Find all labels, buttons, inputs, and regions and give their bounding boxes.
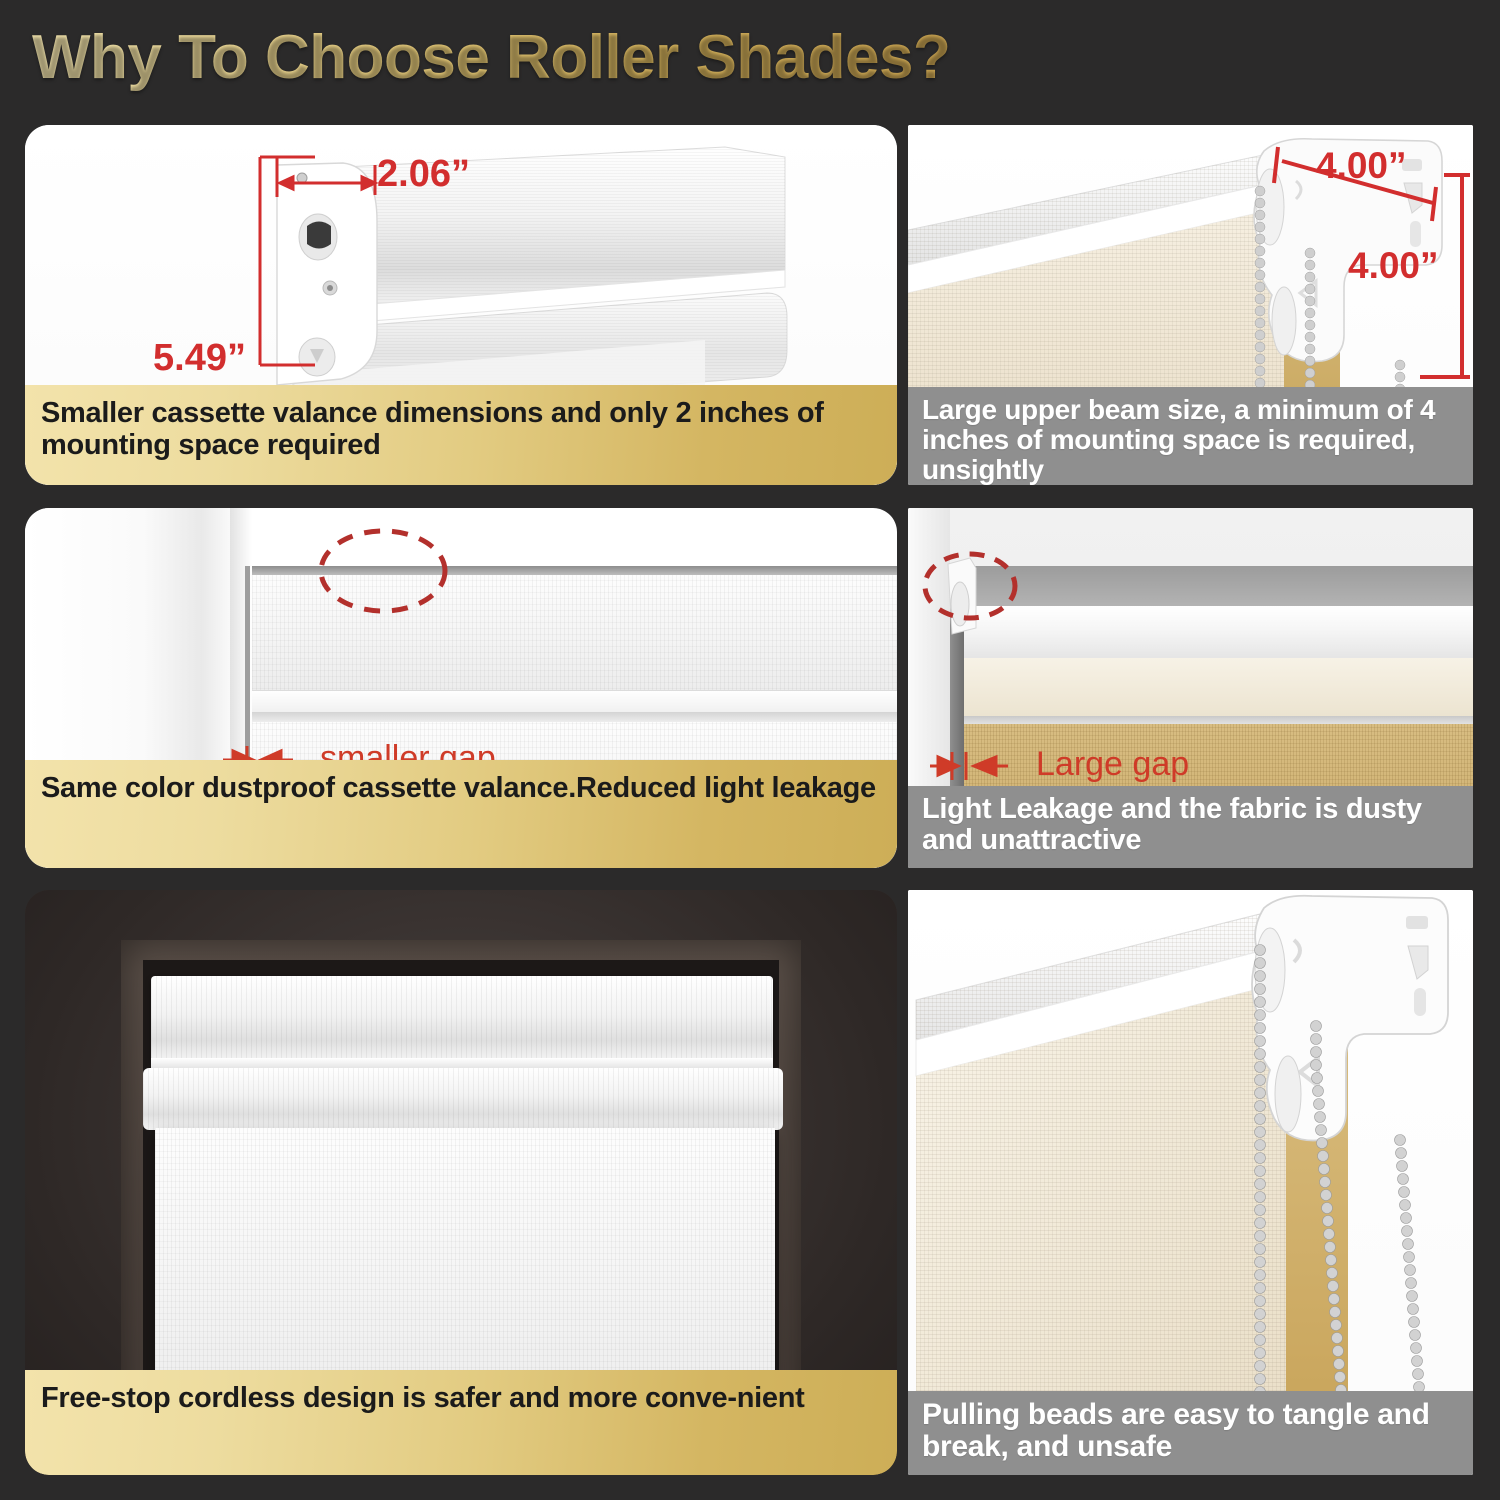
caption-bar: Light Leakage and the fabric is dusty an…: [908, 786, 1473, 868]
caption-bar: Large upper beam size, a minimum of 4 in…: [908, 387, 1473, 485]
caption-text: Free-stop cordless design is safer and m…: [41, 1382, 805, 1414]
caption-bar: Pulling beads are easy to tangle and bre…: [908, 1391, 1473, 1475]
panel-cordless-design: Free-stop cordless design is safer and m…: [25, 890, 897, 1475]
pulling-beads-photo: [908, 890, 1473, 1475]
panel-light-leakage: Large gap Light Leakage and the fabric i…: [908, 508, 1473, 868]
panel-upper-beam-size: 4.00” 4.00” Large upper beam size, a min…: [908, 125, 1473, 485]
panel-cassette-dimensions: 2.06” 5.49” Smaller cassette valance dim…: [25, 125, 897, 485]
caption-text: Smaller cassette valance dimensions and …: [41, 397, 824, 461]
caption-text: Large upper beam size, a minimum of 4 in…: [922, 394, 1435, 485]
caption-text: Pulling beads are easy to tangle and bre…: [922, 1398, 1430, 1463]
page-title: Why To Choose Roller Shades?: [32, 22, 950, 93]
caption-text: Same color dustproof cassette valance.Re…: [41, 772, 876, 804]
gap-label: Large gap: [1036, 745, 1189, 784]
width-dimension-label: 4.00”: [1316, 145, 1407, 187]
panel-pulling-beads: Pulling beads are easy to tangle and bre…: [908, 890, 1473, 1475]
caption-bar: Same color dustproof cassette valance.Re…: [25, 760, 897, 868]
roller-tube: [143, 1068, 783, 1130]
height-dimension-label: 4.00”: [1348, 245, 1439, 287]
caption-text: Light Leakage and the fabric is dusty an…: [922, 793, 1422, 856]
caption-bar: Free-stop cordless design is safer and m…: [25, 1370, 897, 1475]
height-dimension-label: 5.49”: [153, 337, 246, 380]
caption-bar: Smaller cassette valance dimensions and …: [25, 385, 897, 485]
width-dimension-label: 2.06”: [377, 153, 470, 196]
panel-dustproof-valance: smaller gap Same color dustproof cassett…: [25, 508, 897, 868]
cassette-valance: [151, 976, 773, 1062]
